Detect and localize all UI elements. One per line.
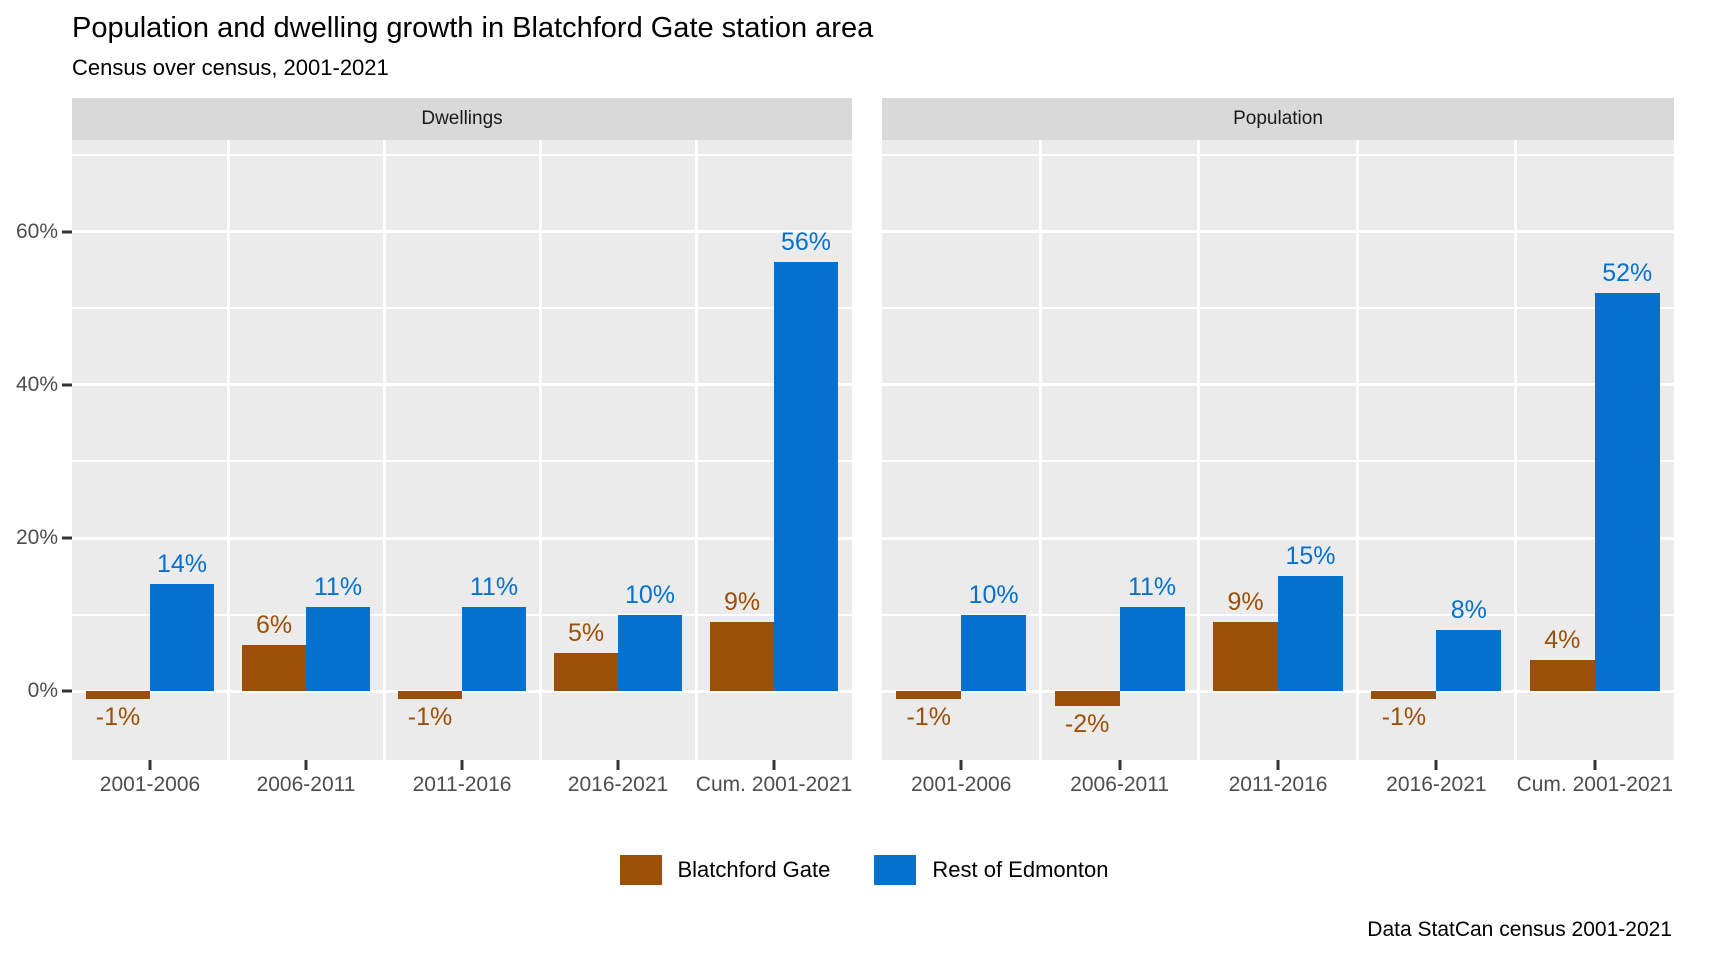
y-axis-tick-mark xyxy=(62,690,72,693)
bar xyxy=(306,607,370,691)
gridline-vertical xyxy=(383,140,386,760)
x-axis-tick-mark xyxy=(1277,760,1280,770)
bar-value-label: 8% xyxy=(1436,596,1501,625)
bar-value-label: 11% xyxy=(306,573,370,602)
chart-title: Population and dwelling growth in Blatch… xyxy=(72,12,873,45)
bar-value-label: 9% xyxy=(1213,588,1278,617)
x-axis-tick-mark xyxy=(773,760,776,770)
gridline-vertical xyxy=(1356,140,1359,760)
bar xyxy=(86,691,150,699)
bar xyxy=(242,645,306,691)
x-axis-tick-mark xyxy=(1435,760,1438,770)
bar xyxy=(961,615,1026,692)
bar-value-label: 9% xyxy=(710,588,774,617)
x-axis-tick-label: 2011-2016 xyxy=(413,773,512,797)
y-axis: 0%20%40%60% xyxy=(0,98,72,760)
x-axis-tick-mark xyxy=(960,760,963,770)
bar-value-label: 6% xyxy=(242,611,306,640)
bar xyxy=(774,262,838,691)
panel-strip-population: Population xyxy=(882,98,1674,140)
x-axis-tick-mark xyxy=(1118,760,1121,770)
panel-dwellings: Dwellings -1%6%-1%5%9%14%11%11%10%56% xyxy=(72,98,852,760)
gridline-major xyxy=(72,383,852,386)
bar xyxy=(896,691,961,699)
gridline-vertical xyxy=(1514,140,1517,760)
x-axis-tick-label: Cum. 2001-2021 xyxy=(1517,773,1673,797)
panel-strip-label: Dwellings xyxy=(421,108,502,130)
bar xyxy=(462,607,526,691)
gridline-vertical xyxy=(1039,140,1042,760)
bar xyxy=(1213,622,1278,691)
gridline-major xyxy=(72,537,852,540)
y-axis-tick-label: 0% xyxy=(28,679,58,703)
x-axis-tick-label: 2016-2021 xyxy=(568,773,668,797)
bar-value-label: -1% xyxy=(1371,703,1436,732)
bar-value-label: -2% xyxy=(1055,710,1120,739)
panel-strip-dwellings: Dwellings xyxy=(72,98,852,140)
x-axis-tick-label: 2016-2021 xyxy=(1386,773,1486,797)
x-axis-tick-label: Cum. 2001-2021 xyxy=(696,773,852,797)
gridline-minor xyxy=(72,307,852,309)
bar xyxy=(618,615,682,692)
gridline-vertical xyxy=(539,140,542,760)
bar-value-label: 4% xyxy=(1530,626,1595,655)
bar xyxy=(1436,630,1501,691)
gridline-vertical xyxy=(695,140,698,760)
gridline-major xyxy=(72,230,852,233)
bar-value-label: -1% xyxy=(86,703,150,732)
y-axis-tick-label: 20% xyxy=(16,526,58,550)
gridline-minor xyxy=(882,307,1674,309)
bar xyxy=(1120,607,1185,691)
gridline-minor xyxy=(882,154,1674,156)
plot-area: Dwellings -1%6%-1%5%9%14%11%11%10%56% Po… xyxy=(72,98,1674,760)
chart-caption: Data StatCan census 2001-2021 xyxy=(1367,918,1672,942)
x-axis-tick-label: 2011-2016 xyxy=(1229,773,1328,797)
bar-value-label: -1% xyxy=(398,703,462,732)
bar-value-label: -1% xyxy=(896,703,961,732)
x-axis-tick-mark xyxy=(461,760,464,770)
legend-item[interactable]: Rest of Edmonton xyxy=(874,855,1108,885)
x-axis-tick-mark xyxy=(149,760,152,770)
bar xyxy=(710,622,774,691)
bar-value-label: 52% xyxy=(1595,259,1660,288)
y-axis-tick-label: 40% xyxy=(16,373,58,397)
y-axis-tick-mark xyxy=(62,537,72,540)
x-axis-tick-label: 2006-2011 xyxy=(1070,773,1169,797)
chart-root: Population and dwelling growth in Blatch… xyxy=(0,0,1728,960)
legend-label: Blatchford Gate xyxy=(678,857,831,883)
bar xyxy=(1278,576,1343,691)
legend-swatch xyxy=(620,855,662,885)
bar-value-label: 10% xyxy=(961,581,1026,610)
gridline-minor xyxy=(72,154,852,156)
legend-item[interactable]: Blatchford Gate xyxy=(620,855,831,885)
x-axis: 2001-20062006-20112011-20162016-2021Cum.… xyxy=(72,760,1674,816)
gridline-major xyxy=(882,537,1674,540)
x-axis-tick-label: 2001-2006 xyxy=(100,773,200,797)
bar-value-label: 5% xyxy=(554,619,618,648)
bar-value-label: 10% xyxy=(618,581,682,610)
bar xyxy=(398,691,462,699)
gridline-minor xyxy=(72,460,852,462)
x-axis-tick-mark xyxy=(1593,760,1596,770)
chart-legend: Blatchford GateRest of Edmonton xyxy=(0,855,1728,885)
y-axis-tick-label: 60% xyxy=(16,220,58,244)
panel-strip-label: Population xyxy=(1233,108,1323,130)
panel-body-population: -1%-2%9%-1%4%10%11%15%8%52% xyxy=(882,140,1674,760)
bar-value-label: 14% xyxy=(150,550,214,579)
x-axis-tick-label: 2001-2006 xyxy=(911,773,1011,797)
bar xyxy=(1595,293,1660,691)
gridline-vertical xyxy=(227,140,230,760)
x-axis-tick-mark xyxy=(305,760,308,770)
gridline-vertical xyxy=(1197,140,1200,760)
bar-value-label: 11% xyxy=(1120,573,1185,602)
y-axis-tick-mark xyxy=(62,230,72,233)
bar xyxy=(150,584,214,691)
bar-value-label: 15% xyxy=(1278,542,1343,571)
legend-swatch xyxy=(874,855,916,885)
x-axis-tick-label: 2006-2011 xyxy=(257,773,356,797)
panel-population: Population -1%-2%9%-1%4%10%11%15%8%52% xyxy=(882,98,1674,760)
bar-value-label: 11% xyxy=(462,573,526,602)
bar xyxy=(1371,691,1436,699)
panel-body-dwellings: -1%6%-1%5%9%14%11%11%10%56% xyxy=(72,140,852,760)
bar xyxy=(1530,660,1595,691)
chart-subtitle: Census over census, 2001-2021 xyxy=(72,55,389,81)
bar xyxy=(554,653,618,691)
gridline-major xyxy=(882,383,1674,386)
gridline-minor xyxy=(882,460,1674,462)
legend-label: Rest of Edmonton xyxy=(932,857,1108,883)
bar xyxy=(1055,691,1120,706)
gridline-major xyxy=(882,230,1674,233)
x-axis-tick-mark xyxy=(617,760,620,770)
bar-value-label: 56% xyxy=(774,228,838,257)
y-axis-tick-mark xyxy=(62,383,72,386)
